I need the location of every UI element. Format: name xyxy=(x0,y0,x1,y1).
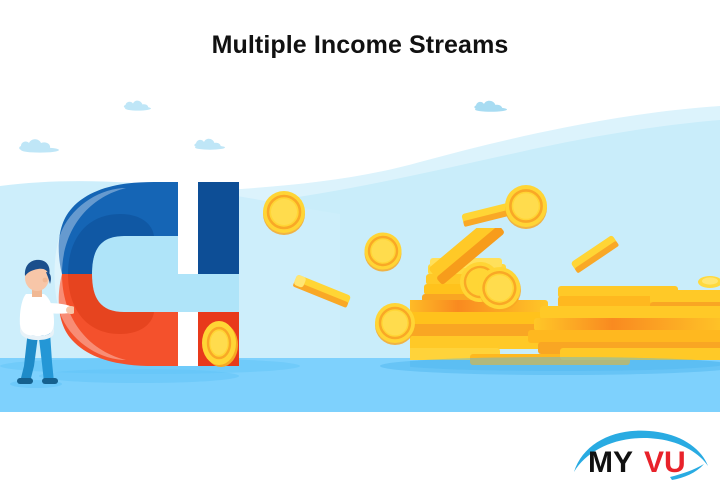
flying-coin-1 xyxy=(260,188,308,236)
coin-stack-right xyxy=(528,306,720,354)
flying-coin-4 xyxy=(458,184,550,240)
cloud-icon-upper-mid xyxy=(122,96,156,112)
myvu-logo-svg: MY VU xyxy=(566,424,712,482)
flying-coin-5 xyxy=(452,256,532,316)
magnet-stripe-north xyxy=(178,182,198,274)
cloud-icon-mid xyxy=(192,134,230,151)
flying-coin-2 xyxy=(362,230,404,272)
flying-coin-6 xyxy=(288,274,362,314)
person-shirt xyxy=(20,294,54,336)
page-title: Multiple Income Streams xyxy=(0,30,720,60)
slide-canvas: Multiple Income Streams xyxy=(0,0,720,488)
person-shoe-front xyxy=(42,378,58,384)
logo-text-secondary: VU xyxy=(644,446,686,479)
flying-coin-3 xyxy=(372,300,418,346)
logo-text-primary: MY xyxy=(588,446,633,479)
cloud-icon-right xyxy=(472,96,512,114)
flying-coin-7 xyxy=(566,234,626,274)
standing-person xyxy=(4,254,74,388)
magnet-stripe-south xyxy=(178,312,198,366)
pile-shadow xyxy=(410,357,720,371)
hero-illustration xyxy=(0,78,720,412)
myvu-logo[interactable]: MY VU xyxy=(566,424,712,482)
person-ear xyxy=(43,278,48,283)
magnet-tip-north xyxy=(198,182,239,274)
person-shoe-back xyxy=(17,378,33,384)
pile-top-coin-inner xyxy=(702,277,718,284)
cloud-icon-left xyxy=(18,134,68,154)
flying-coin-4-edge xyxy=(461,203,511,227)
